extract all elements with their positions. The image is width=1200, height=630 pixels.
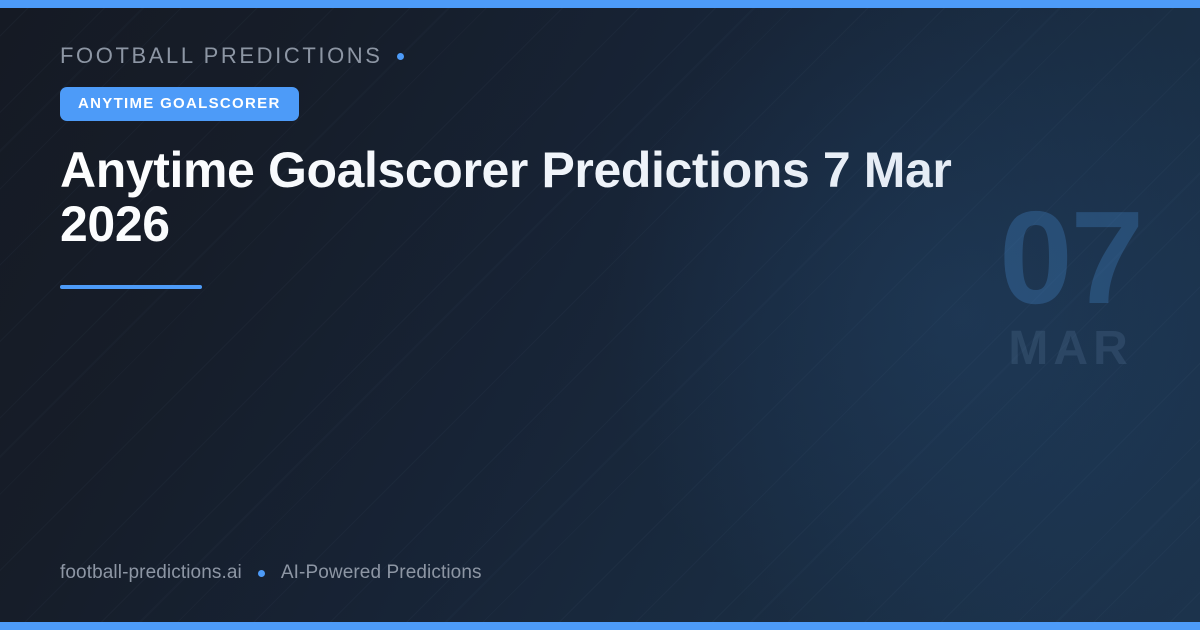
og-image-card: 07 MAR Football Predictions Anytime Goal… [0,0,1200,630]
top-accent-bar [0,0,1200,8]
footer: football-predictions.ai AI-Powered Predi… [60,562,482,584]
footer-separator-dot-icon [258,570,265,577]
eyebrow-dot-icon [397,53,404,60]
footer-site-name: football-predictions.ai [60,562,242,584]
eyebrow-row: Football Predictions [60,40,1060,72]
page-title: Anytime Goalscorer Predictions 7 Mar 202… [60,143,1060,251]
category-badge: Anytime Goalscorer [60,87,299,121]
bottom-accent-bar [0,622,1200,630]
eyebrow-label: Football Predictions [60,43,383,69]
accent-underline [60,285,202,289]
footer-tagline: AI-Powered Predictions [281,562,482,584]
date-month: MAR [999,325,1142,373]
card-content: Football Predictions Anytime Goalscorer … [60,40,1060,289]
